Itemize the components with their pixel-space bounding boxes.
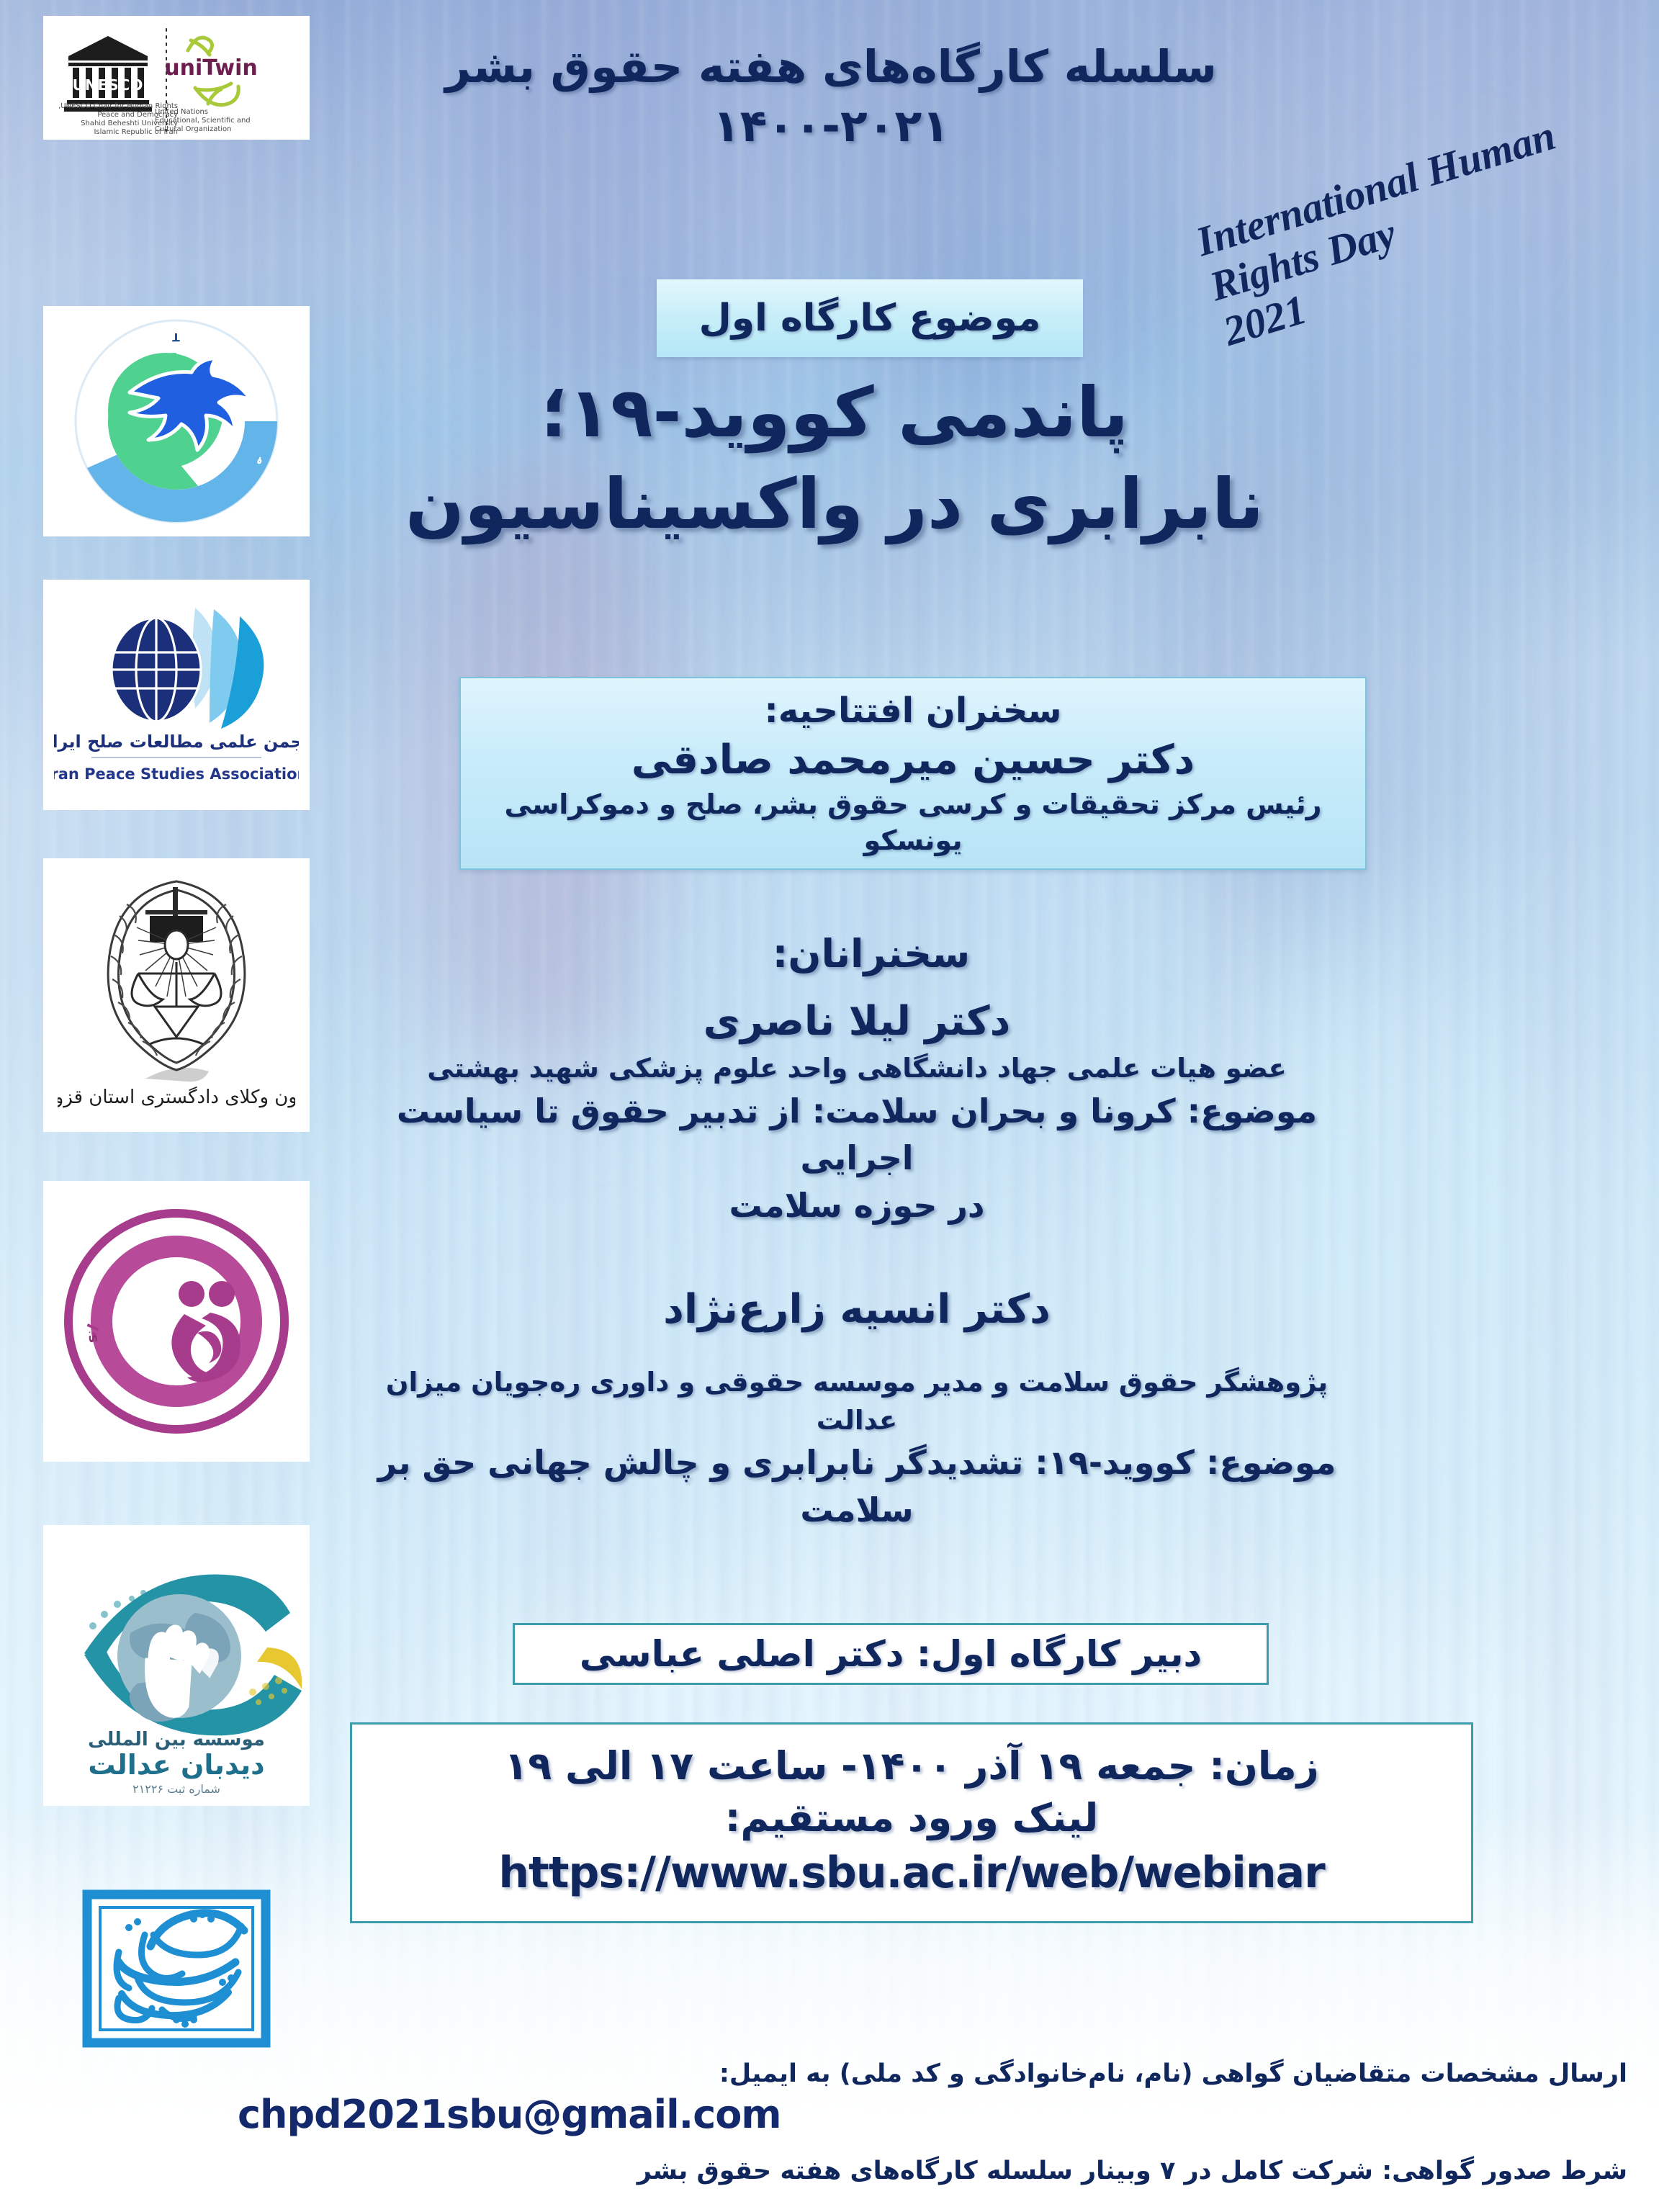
speaker-1-topic-line1: موضوع: کرونا و بحران سلامت: از تدبیر حقو… <box>346 1088 1368 1182</box>
unesco-chair-line2: Peace and Democracy <box>97 111 178 119</box>
footer-certificate-instructions: ارسال مشخصات متقاضیان گواهی (نام، نام‌خا… <box>461 2056 1627 2092</box>
logo-qazvin-bar-association: کانون وکلای دادگستری استان قزوین <box>43 858 310 1132</box>
opening-speaker-affiliation: رئیس مرکز تحقیقات و کرسی حقوق بشر، صلح و… <box>477 787 1349 858</box>
logo-iran-peace-studies: انجمن علمی مطالعات صلح ایران Iran Peace … <box>43 580 310 810</box>
qazvin-bar-icon: کانون وکلای دادگستری استان قزوین <box>58 866 295 1125</box>
speaker-1-name: دکتر لیلا ناصری <box>346 994 1368 1050</box>
logo-shahid-beheshti-university <box>43 1872 310 2074</box>
logo-center-peace-environment: CENTER FOR PEACE AND ENVIRONMENT مرکز صل… <box>43 306 310 536</box>
workshop-secretary-label: دبیر کارگاه اول: دکتر اصلی عباسی <box>580 1633 1202 1675</box>
workshop-topic-ribbon-label: موضوع کارگاه اول <box>699 297 1041 340</box>
speaker-2-topic-line2: سلامت <box>346 1487 1368 1534</box>
speaker-2-topic-line1: موضوع: کووید-۱۹: تشدیدگر نابرابری و چالش… <box>346 1439 1368 1486</box>
logo-didban-edalat: موسسه بین المللی دیدبان عدالت شماره ثبت … <box>43 1525 310 1806</box>
workshop-secretary-box: دبیر کارگاه اول: دکتر اصلی عباسی <box>513 1623 1269 1685</box>
series-kicker: سلسله کارگاه‌های هفته حقوق بشر ۱۴۰۰-۲۰۲۱ <box>406 37 1256 156</box>
didban-fa-line2: دیدبان عدالت <box>88 1749 264 1781</box>
event-link-label: لینک ورود مستقیم: <box>377 1792 1447 1844</box>
unesco-chair-line4: Islamic Republic of Iran <box>94 128 178 136</box>
svg-text:UNESCO: UNESCO <box>73 76 144 94</box>
series-kicker-line2: ۱۴۰۰-۲۰۲۱ <box>406 96 1256 156</box>
footer-certificate-condition: شرط صدور گواهی: شرکت کامل در ۷ وبینار سل… <box>461 2153 1627 2190</box>
shahid-beheshti-icon <box>68 1883 284 2063</box>
speaker-block-2: دکتر انسیه زارع‌نژاد پژوهشگر حقوق سلامت … <box>346 1282 1368 1534</box>
iran-peace-studies-icon: انجمن علمی مطالعات صلح ایران Iran Peace … <box>54 590 299 799</box>
sponsor-logo-rail: UNESCO uniTwin United Nations Educationa… <box>43 0 310 2212</box>
footer-line-2: شرط صدور گواهی: شرکت کامل در ۷ وبینار سل… <box>461 2153 1627 2190</box>
ipsa-fa-name: انجمن علمی مطالعات صلح ایران <box>54 732 299 752</box>
event-webinar-url: https://www.sbu.ac.ir/web/webinar <box>377 1845 1447 1901</box>
page-title-line1: پاندمی کووید-۱۹؛ <box>385 367 1285 459</box>
poster-canvas: UNESCO uniTwin United Nations Educationa… <box>0 0 1659 2212</box>
opening-speaker-name: دکتر حسین میرمحمد صادقی <box>477 733 1349 787</box>
peace-environment-icon: CENTER FOR PEACE AND ENVIRONMENT مرکز صل… <box>58 313 295 529</box>
unesco-unitwin-icon: UNESCO uniTwin United Nations Educationa… <box>47 19 306 138</box>
speaker-block-1: دکتر لیلا ناصری عضو هیات علمی جهاد دانشگ… <box>346 994 1368 1229</box>
series-kicker-line1: سلسله کارگاه‌های هفته حقوق بشر <box>406 37 1256 96</box>
logo-unesco-unitwin: UNESCO uniTwin United Nations Educationa… <box>43 16 310 140</box>
footer-line-1: ارسال مشخصات متقاضیان گواهی (نام، نام‌خا… <box>461 2056 1627 2092</box>
didban-reg-number: شماره ثبت ۲۱۲۲۶ <box>132 1782 220 1797</box>
unesco-chair-line3: Shahid Beheshti University <box>81 120 178 127</box>
didban-fa-line1: موسسه بین المللی <box>88 1729 265 1750</box>
svg-text:uniTwin: uniTwin <box>164 55 258 81</box>
unesco-chair-line1: UNESCO Chair for Human Rights, <box>58 102 178 110</box>
speaker-1-affiliation: عضو هیات علمی جهاد دانشگاهی واحد علوم پز… <box>346 1050 1368 1088</box>
speakers-heading-block: سخنرانان: <box>403 927 1339 981</box>
page-title-line2: نابرابری در واکسیناسیون <box>385 459 1285 550</box>
speakers-heading: سخنرانان: <box>403 927 1339 981</box>
opening-speaker-panel: سخنران افتتاحیه: دکتر حسین میرمحمد صادقی… <box>459 677 1367 870</box>
qazvin-bar-fa-name: کانون وکلای دادگستری استان قزوین <box>58 1086 295 1108</box>
contact-email[interactable]: chpd2021sbu@gmail.com <box>238 2092 781 2137</box>
speaker-1-topic-line2: در حوزه سلامت <box>346 1182 1368 1229</box>
workshop-topic-ribbon: موضوع کارگاه اول <box>657 279 1083 357</box>
ipsa-en-name: Iran Peace Studies Association <box>54 765 299 783</box>
speaker-2-name: دکتر انسیه زارع‌نژاد <box>346 1282 1368 1338</box>
logo-iranian-womens-studies: انجمن ایرانی مطالعات زنان Iranian Associ… <box>43 1181 310 1462</box>
didban-edalat-icon: موسسه بین المللی دیدبان عدالت شماره ثبت … <box>51 1532 302 1799</box>
event-info-box: زمان: جمعه ۱۹ آذر ۱۴۰۰- ساعت ۱۷ الی ۱۹ ل… <box>350 1722 1473 1923</box>
opening-speaker-heading: سخنران افتتاحیه: <box>477 688 1349 733</box>
womens-studies-icon: انجمن ایرانی مطالعات زنان Iranian Associ… <box>50 1192 302 1451</box>
event-datetime: زمان: جمعه ۱۹ آذر ۱۴۰۰- ساعت ۱۷ الی ۱۹ <box>377 1740 1447 1792</box>
page-title: پاندمی کووید-۱۹؛ نابرابری در واکسیناسیون <box>385 367 1285 549</box>
speaker-2-affiliation: پژوهشگر حقوق سلامت و مدیر موسسه حقوقی و … <box>346 1364 1368 1439</box>
